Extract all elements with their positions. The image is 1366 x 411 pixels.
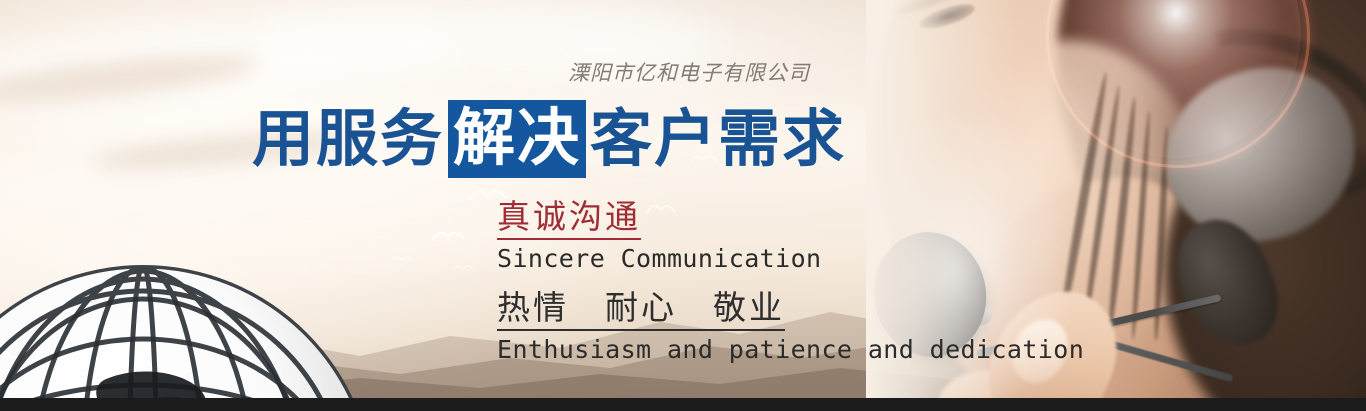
- headline-part-before: 用服务: [252, 108, 444, 170]
- headline: 用服务 解决 客户需求: [252, 100, 846, 178]
- text-content: 溧阳市亿和电子有限公司 用服务 解决 客户需求 真诚沟通 Sincere Com…: [0, 0, 1366, 411]
- company-name: 溧阳市亿和电子有限公司: [568, 57, 810, 87]
- slogan-row-1: 真诚沟通 Sincere Communication: [497, 198, 1084, 273]
- bottom-bar: [0, 398, 1366, 411]
- slogan-row-2: 热情 耐心 敬业 Enthusiasm and patience and ded…: [497, 273, 1084, 364]
- headline-part-after: 客户需求: [590, 108, 846, 170]
- headline-highlight: 解决: [448, 100, 586, 178]
- slogan-english-2: Enthusiasm and patience and dedication: [497, 335, 1084, 364]
- slogan-english-1: Sincere Communication: [497, 244, 1084, 273]
- slogan-chinese-1: 真诚沟通: [497, 198, 641, 240]
- slogan-block: 真诚沟通 Sincere Communication 热情 耐心 敬业 Enth…: [497, 198, 1084, 364]
- slogan-chinese-2: 热情 耐心 敬业: [497, 289, 785, 331]
- promotional-banner: 溧阳市亿和电子有限公司 用服务 解决 客户需求 真诚沟通 Sincere Com…: [0, 0, 1366, 411]
